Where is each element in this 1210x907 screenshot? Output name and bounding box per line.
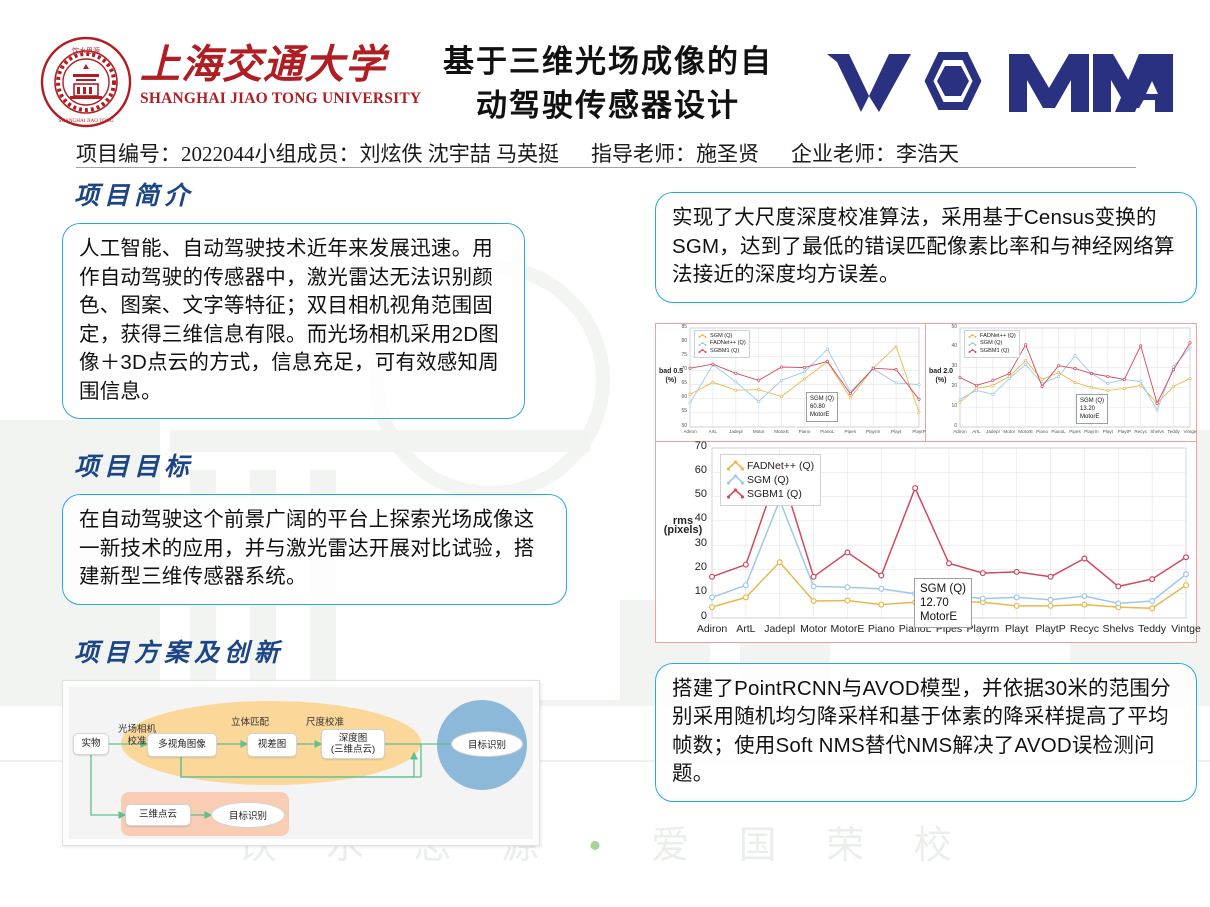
chart-bad05-ylabel: bad 0.5 (%)	[657, 367, 685, 385]
chart-bad20-legend-item: SGBM1 (Q)	[968, 348, 1016, 356]
legend-swatch-icon	[727, 474, 744, 485]
vomma-logo	[823, 50, 1173, 112]
flowchart-label-scale-calibration: 尺度校准	[293, 717, 357, 729]
members-label: 小组成员：	[255, 138, 360, 168]
chart-rms-legend: FADNet++ (Q)SGM (Q)SGBM1 (Q)	[720, 454, 821, 506]
chart-rms-ylabel: rms (pixels)	[660, 517, 706, 535]
chart-bad20-legend-item: SGM (Q)	[968, 340, 1016, 348]
flowchart-node-object-label: 实物	[81, 738, 100, 749]
chart-bad05-xtick: MotorE	[770, 429, 794, 434]
chart-bad05-xtick: PianoL	[815, 429, 839, 434]
hex-o-icon	[929, 56, 977, 106]
chart-bad20-legend-item: FADNet++ (Q)	[968, 333, 1016, 341]
legend-swatch-icon	[968, 348, 977, 354]
project-info-bar: 项目编号：2022044小组成员：刘炫佚 沈宇喆 马英挺指导老师：施圣贤企业老师…	[76, 138, 1136, 168]
flowchart-node-disparity: 视差图	[247, 733, 297, 757]
chart-rms-xtick: Vintge	[1161, 623, 1210, 635]
solution-flowchart: 实物 多视角图像 视差图 深度图 (三维点云) 目标识别 三维点云 目标识别	[62, 680, 540, 846]
watermark-slogan-right: 爱 国 荣 校	[651, 825, 972, 867]
chart-bad05-legend-item: SGBM1 (Q)	[698, 348, 746, 356]
legend-swatch-icon	[727, 460, 744, 471]
flowchart-node-depth: 深度图 (三维点云)	[321, 729, 385, 759]
sjtu-seal-logo: 饮水思源 SHANGHAI JIAO TONG	[40, 36, 132, 128]
chart-bad20-tooltip-series: SGM (Q)	[1080, 397, 1104, 405]
chart-bad05-xtick: Piano	[793, 429, 817, 434]
chart-rms-tooltip-category: MotorE	[920, 610, 966, 624]
chart-bad05-xtick: Playt	[884, 429, 908, 434]
chart-bad05-legend-item: FADNet++ (Q)	[698, 340, 746, 348]
chart-rms-legend-item: SGBM1 (Q)	[727, 487, 814, 501]
legend-swatch-icon	[698, 341, 707, 347]
chart-bad05-tooltip-value: 60.80	[810, 403, 834, 411]
flowchart-node-detect-upper: 目标识别	[451, 731, 523, 757]
achievement-2-text: 搭建了PointRCNN与AVOD模型，并依据30米的范围分别采用随机均匀降采样…	[672, 675, 1182, 789]
achievement-1-box: 实现了大尺度深度校准算法，采用基于Census变换的SGM，达到了最低的错误匹配…	[655, 192, 1197, 303]
legend-swatch-icon	[727, 488, 744, 499]
legend-label: FADNet++ (Q)	[710, 340, 746, 348]
project-intro-box: 人工智能、自动驾驶技术近年来发展迅速。用作自动驾驶的传感器中，激光雷达无法识别颜…	[62, 223, 525, 419]
chart-bad05-tooltip: SGM (Q)60.80MotorE	[806, 392, 838, 422]
section-heading-plan: 项目方案及创新	[74, 633, 597, 669]
chart-bad05-xtick: ArtL	[701, 429, 725, 434]
poster-header: 饮水思源 SHANGHAI JIAO TONG 上海交通大学 SHANGHAI …	[0, 0, 1210, 133]
legend-label: SGM (Q)	[710, 333, 732, 341]
flowchart-node-detect-lower-label: 目标识别	[229, 808, 267, 822]
page-title-line1: 基于三维光场成像的自	[398, 40, 818, 84]
flowchart-node-disparity-label: 视差图	[258, 739, 287, 750]
legend-swatch-icon	[698, 333, 707, 339]
chart-bad-0-5: 5055606570758085AdironArtLJadeplMotorMot…	[656, 324, 926, 442]
members-value: 刘炫佚 沈宇喆 马英挺	[360, 138, 560, 168]
chart-bad20-tooltip-category: MotorE	[1080, 413, 1104, 421]
flowchart-node-pointcloud-label: 三维点云	[139, 809, 177, 820]
chart-bad05-legend-item: SGM (Q)	[698, 333, 746, 341]
sjtu-name-en: SHANGHAI JIAO TONG UNIVERSITY	[140, 90, 390, 108]
chart-rms-legend-item: FADNet++ (Q)	[727, 459, 814, 473]
chart-rms-tooltip-series: SGM (Q)	[920, 582, 966, 596]
chart-bad20-ylabel: bad 2.0 (%)	[927, 367, 955, 385]
chart-bad05-tooltip-category: MotorE	[810, 411, 834, 419]
legend-swatch-icon	[968, 341, 977, 347]
flowchart-node-detect-upper-label: 目标识别	[468, 737, 506, 751]
project-goal-box: 在自动驾驶这个前景广阔的平台上探索光场成像这一新技术的应用，并与激光雷达开展对比…	[62, 494, 567, 605]
chart-bad-2-0: 01020304050AdironArtLJadeplMotorMotorEPi…	[926, 324, 1196, 442]
chart-bad20-tooltip: SGM (Q)13.20MotorE	[1076, 394, 1108, 424]
industry-advisor-value: 李浩天	[896, 138, 959, 168]
section-heading-goal: 项目目标	[74, 447, 597, 483]
benchmark-charts-panel: 5055606570758085AdironArtLJadeplMotorMot…	[655, 323, 1197, 643]
advisor-value: 施圣贤	[696, 138, 759, 168]
chart-bad05-legend: SGM (Q)FADNet++ (Q)SGBM1 (Q)	[694, 330, 750, 359]
flowchart-node-depth-label: 深度图 (三维点云)	[331, 733, 375, 755]
flowchart-node-detect-lower: 目标识别	[211, 802, 285, 828]
chart-bad05-tooltip-series: SGM (Q)	[810, 395, 834, 403]
flowchart-node-pointcloud: 三维点云	[125, 804, 191, 826]
sjtu-wordmark: 上海交通大学 SHANGHAI JIAO TONG UNIVERSITY	[140, 42, 390, 108]
legend-label: SGM (Q)	[980, 340, 1002, 348]
industry-advisor-label: 企业老师：	[791, 138, 896, 168]
project-intro-text: 人工智能、自动驾驶技术近年来发展迅速。用作自动驾驶的传感器中，激光雷达无法识别颜…	[79, 235, 510, 406]
svg-text:SHANGHAI JIAO TONG: SHANGHAI JIAO TONG	[58, 118, 113, 124]
legend-label: SGBM1 (Q)	[747, 487, 802, 501]
page-title: 基于三维光场成像的自 动驾驶传感器设计	[398, 40, 818, 128]
achievement-2-box: 搭建了PointRCNN与AVOD模型，并依据30米的范围分别采用随机均匀降采样…	[655, 663, 1197, 802]
chart-rms-tooltip-value: 12.70	[920, 596, 966, 610]
chart-rms-legend-item: SGM (Q)	[727, 473, 814, 487]
legend-label: SGBM1 (Q)	[710, 348, 739, 356]
chart-rms: 010203040506070AdironArtLJadeplMotorMoto…	[656, 442, 1196, 642]
flowchart-node-object: 实物	[73, 733, 109, 755]
chart-rms-tooltip: SGM (Q)12.70MotorE	[914, 578, 972, 628]
legend-label: FADNet++ (Q)	[980, 333, 1016, 341]
chart-bad20-xtick: Vintge	[1178, 429, 1202, 434]
project-number-value: 2022044	[181, 142, 255, 167]
legend-label: FADNet++ (Q)	[747, 459, 814, 473]
legend-label: SGM (Q)	[747, 473, 789, 487]
section-heading-intro: 项目简介	[74, 176, 597, 212]
project-goal-text: 在自动驾驶这个前景广阔的平台上探索光场成像这一新技术的应用，并与激光雷达开展对比…	[79, 506, 552, 592]
page-title-line2: 动驾驶传感器设计	[398, 84, 818, 128]
legend-label: SGBM1 (Q)	[980, 348, 1009, 356]
sjtu-name-cn: 上海交通大学	[140, 42, 390, 88]
achievement-1-text: 实现了大尺度深度校准算法，采用基于Census变换的SGM，达到了最低的错误匹配…	[672, 204, 1182, 290]
chart-bad20-legend: FADNet++ (Q)SGM (Q)SGBM1 (Q)	[964, 330, 1020, 359]
project-number-label: 项目编号：	[76, 138, 181, 168]
legend-swatch-icon	[698, 348, 707, 354]
chart-bad05-xtick: Jadepl	[724, 429, 748, 434]
chart-bad05-xtick: Pipes	[838, 429, 862, 434]
flowchart-label-stereo-matching: 立体匹配	[219, 717, 281, 729]
chart-bad05-xtick: Adiron	[678, 429, 702, 434]
advisor-label: 指导老师：	[591, 138, 696, 168]
chart-bad20-tooltip-value: 13.20	[1080, 405, 1104, 413]
chart-bad05-xtick: Motor	[747, 429, 771, 434]
chart-bad05-xtick: Playrm	[861, 429, 885, 434]
legend-swatch-icon	[968, 333, 977, 339]
svg-text:饮水思源: 饮水思源	[72, 46, 100, 55]
flowchart-label-calibration: 光场相机 校准	[105, 713, 169, 748]
left-column: 项目简介 人工智能、自动驾驶技术近年来发展迅速。用作自动驾驶的传感器中，激光雷达…	[62, 176, 597, 846]
right-column: 实现了大尺度深度校准算法，采用基于Census变换的SGM，达到了最低的错误匹配…	[655, 192, 1197, 802]
